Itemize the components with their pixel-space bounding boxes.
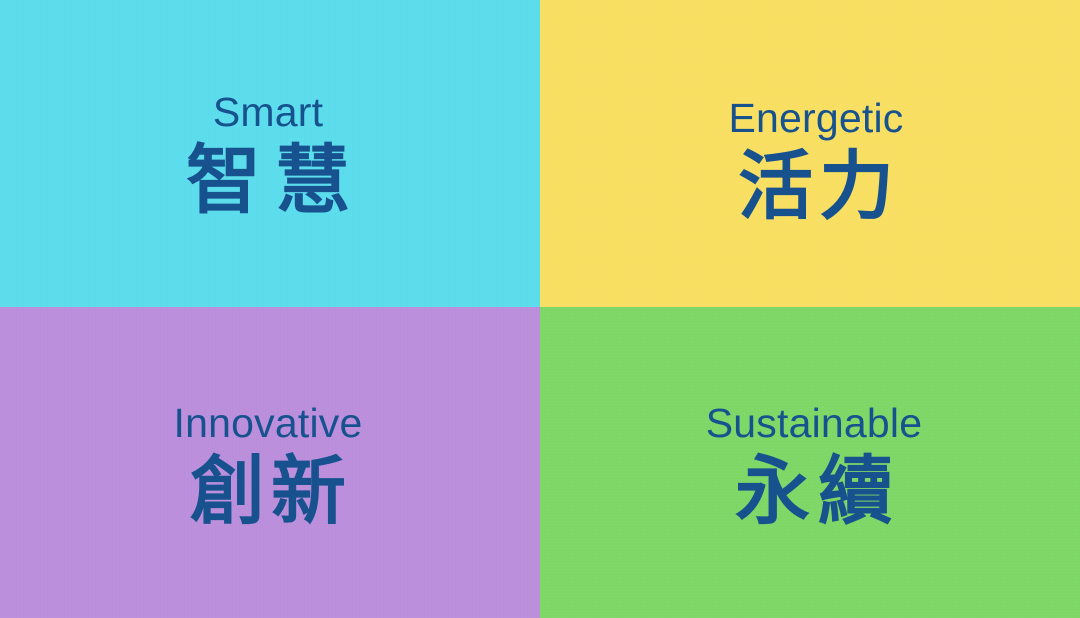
- quadrant-energetic-label-zh: 活力: [732, 144, 900, 228]
- quadrant-sustainable-label-en: Sustainable: [706, 402, 922, 445]
- quadrant-board: Smart 智慧 Energetic 活力 Innovative 創新 Sust…: [0, 0, 1080, 618]
- quadrant-smart-label-en: Smart: [213, 91, 323, 134]
- quadrant-sustainable[interactable]: Sustainable 永續: [540, 307, 1080, 618]
- quadrant-smart-label-zh: 智慧: [172, 138, 364, 222]
- quadrant-smart[interactable]: Smart 智慧: [0, 0, 540, 307]
- quadrant-innovative-label-en: Innovative: [174, 402, 363, 445]
- quadrant-energetic[interactable]: Energetic 活力: [540, 0, 1080, 307]
- quadrant-sustainable-content: Sustainable 永續: [706, 402, 922, 533]
- quadrant-energetic-content: Energetic 活力: [728, 97, 903, 228]
- quadrant-innovative-content: Innovative 創新: [174, 402, 363, 533]
- quadrant-smart-content: Smart 智慧: [172, 91, 364, 222]
- quadrant-innovative[interactable]: Innovative 創新: [0, 307, 540, 618]
- quadrant-innovative-label-zh: 創新: [184, 449, 352, 533]
- quadrant-sustainable-label-zh: 永續: [727, 449, 901, 533]
- quadrant-energetic-label-en: Energetic: [728, 97, 903, 140]
